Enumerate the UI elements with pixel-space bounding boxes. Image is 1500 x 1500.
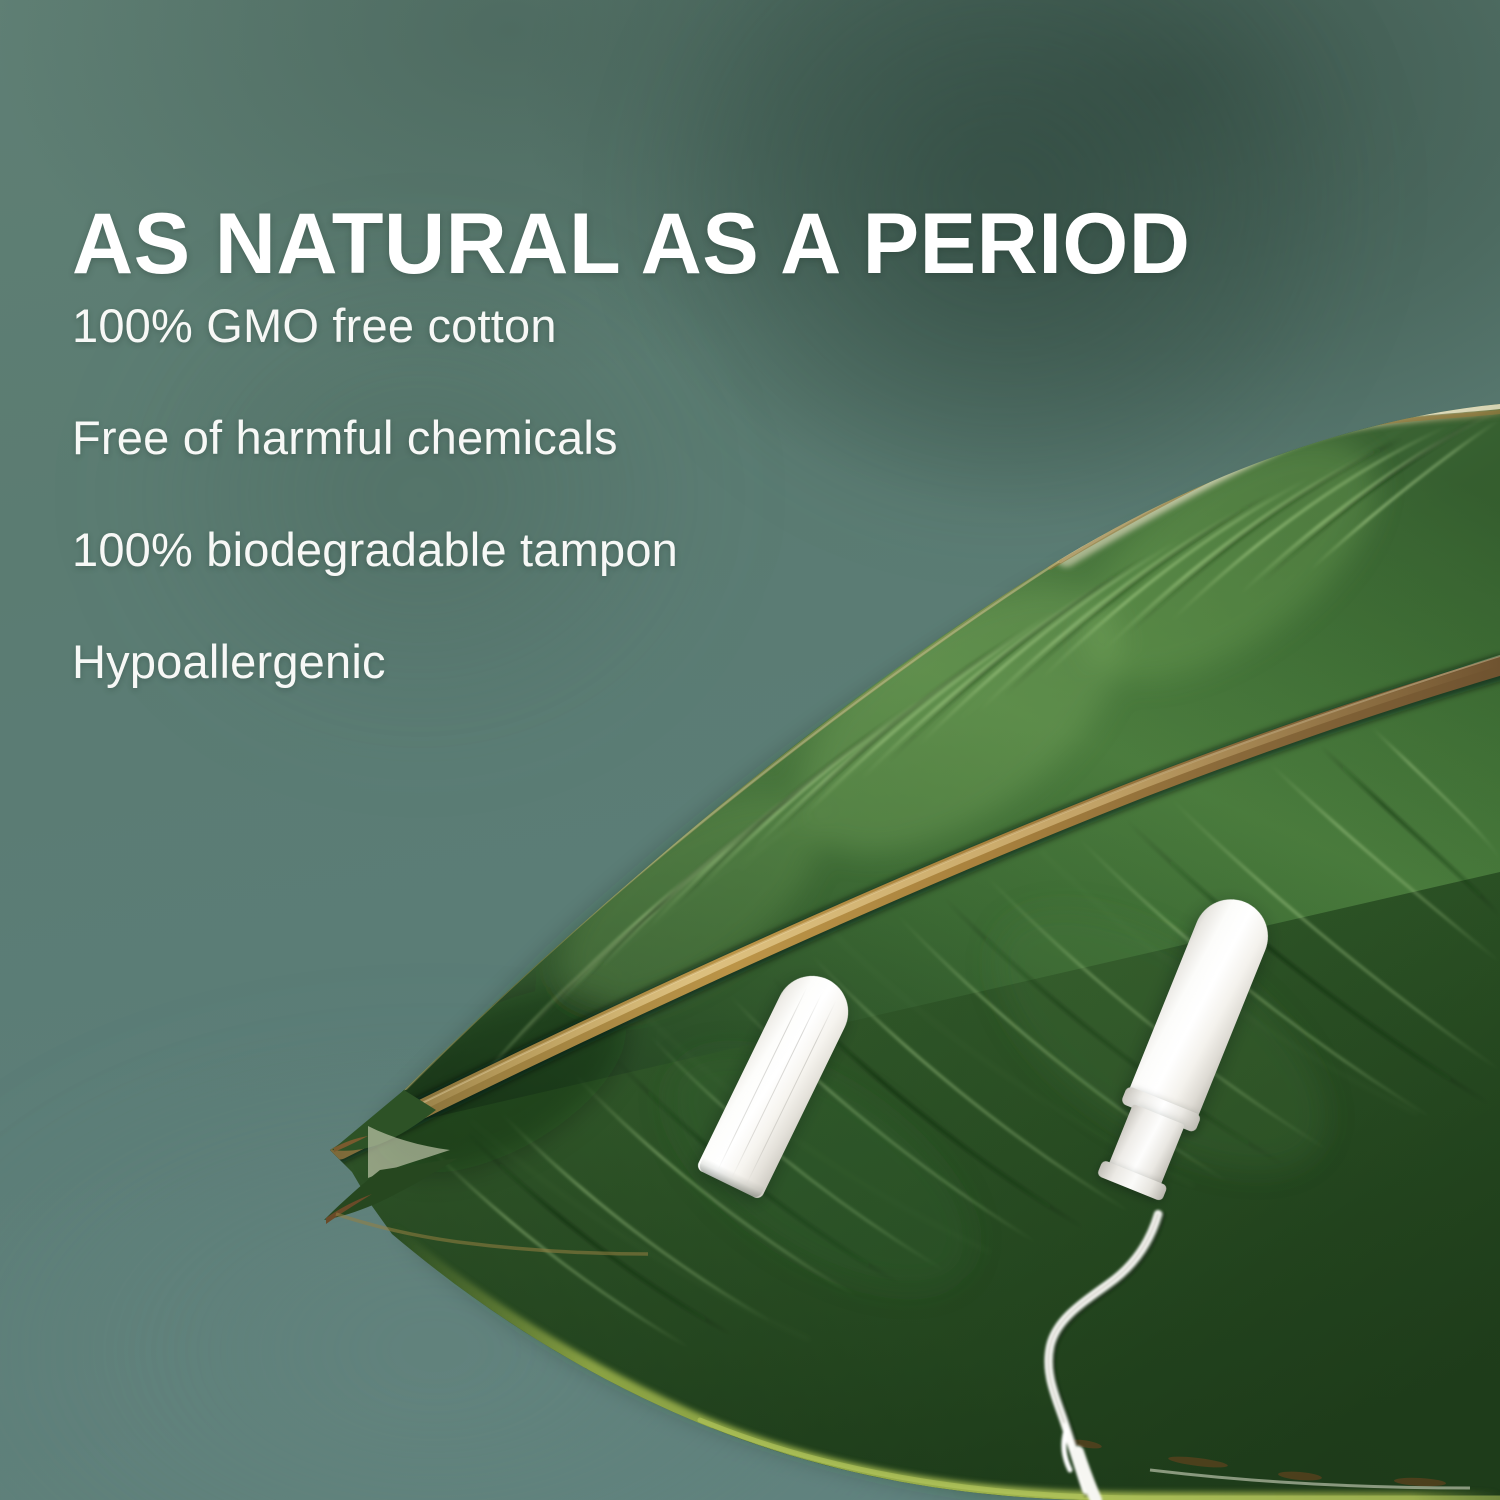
product-feature-image: AS NATURAL AS A PERIOD 100% GMO free cot… (0, 0, 1500, 1500)
list-item: 100% biodegradable tampon (72, 526, 1072, 573)
page-title: AS NATURAL AS A PERIOD (72, 201, 1431, 287)
list-item: Free of harmful chemicals (72, 414, 1072, 461)
list-item: 100% GMO free cotton (72, 302, 1072, 349)
list-item: Hypoallergenic (72, 638, 1072, 685)
benefits-list: 100% GMO free cotton Free of harmful che… (72, 302, 1072, 685)
